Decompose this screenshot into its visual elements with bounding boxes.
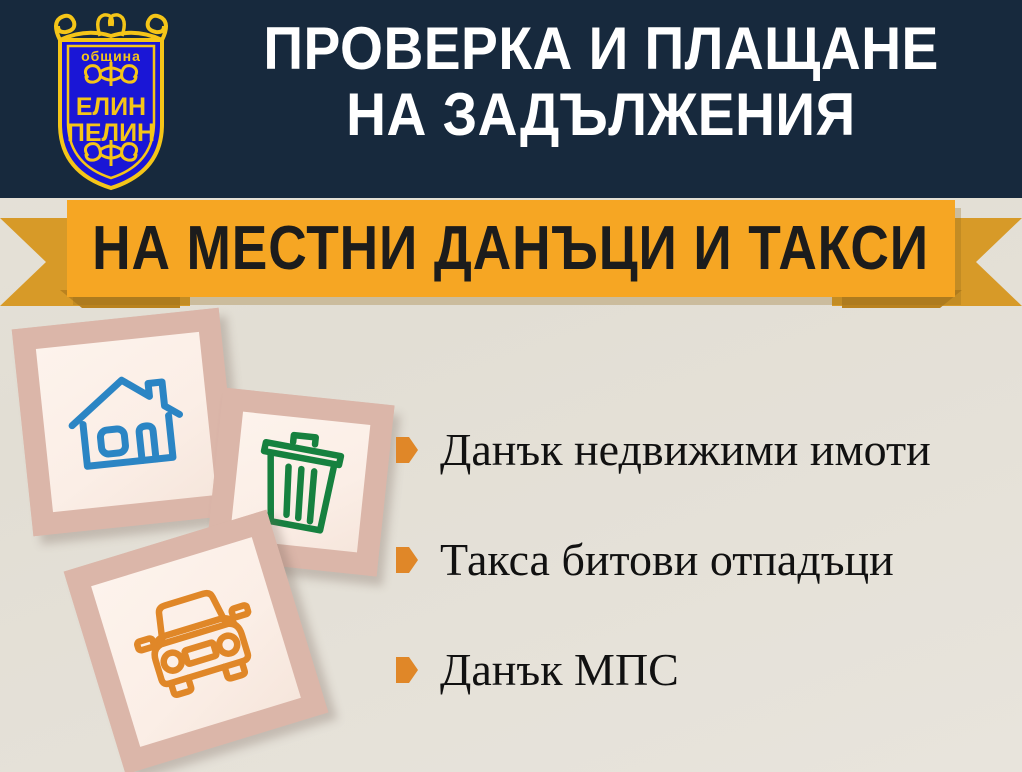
- bullet-arrow-icon: [396, 657, 418, 683]
- tax-type-list: Данък недвижими имоти Такса битови отпад…: [396, 424, 1016, 754]
- list-item[interactable]: Данък недвижими имоти: [396, 424, 1016, 476]
- title-line-1: ПРОВЕРКА И ПЛАЩАНЕ: [263, 16, 938, 82]
- list-item-label: Такса битови отпадъци: [440, 535, 894, 585]
- bullet-arrow-icon: [396, 547, 418, 573]
- ribbon-label: НА МЕСТНИ ДАНЪЦИ И ТАКСИ: [93, 218, 930, 280]
- stamp-paper: [36, 332, 216, 512]
- municipality-emblem: община ЕЛИН ПЕЛИН: [38, 6, 184, 192]
- page-title: ПРОВЕРКА И ПЛАЩАНЕ НА ЗАДЪЛЖЕНИЯ: [190, 16, 1012, 186]
- list-item-label: Данък МПС: [440, 645, 679, 695]
- emblem-label-line1: ЕЛИН: [38, 94, 184, 120]
- house-icon: [61, 364, 191, 480]
- list-item[interactable]: Такса битови отпадъци: [396, 534, 1016, 586]
- poster-root: община ЕЛИН ПЕЛИН ПРОВЕРКА И ПЛАЩАНЕ НА …: [0, 0, 1022, 772]
- list-item-label: Данък недвижими имоти: [440, 425, 931, 475]
- subtitle-ribbon: НА МЕСТНИ ДАНЪЦИ И ТАКСИ: [0, 198, 1022, 318]
- title-line-2: НА ЗАДЪЛЖЕНИЯ: [346, 82, 856, 148]
- header-bar: община ЕЛИН ПЕЛИН ПРОВЕРКА И ПЛАЩАНЕ НА …: [0, 0, 1022, 198]
- ribbon-bar: НА МЕСТНИ ДАНЪЦИ И ТАКСИ: [67, 200, 955, 297]
- emblem-label-line2: ПЕЛИН: [38, 120, 184, 146]
- car-icon: [122, 576, 270, 708]
- bullet-arrow-icon: [396, 437, 418, 463]
- stamp-card-house: [12, 308, 241, 537]
- emblem-label-top: община: [38, 48, 184, 64]
- list-item[interactable]: Данък МПС: [396, 644, 1016, 696]
